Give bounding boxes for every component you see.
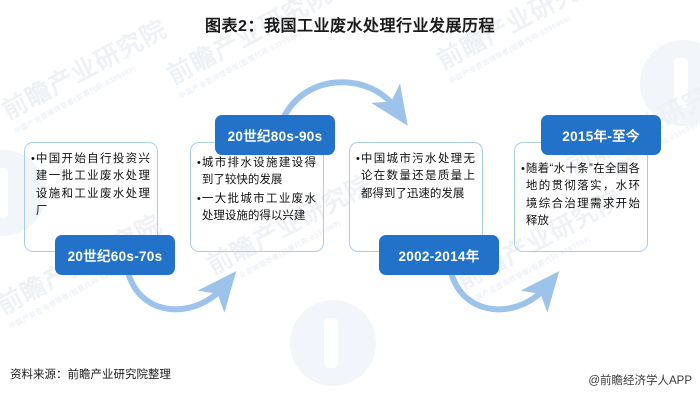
bullet-text: 一大批城市工业废水处理设施的得以兴建 — [202, 191, 316, 226]
bullet-marker: • — [521, 161, 525, 178]
stage-badge-4-label: 2015年-至今 — [562, 125, 639, 145]
stage-card-2: • 城市排水设施建设得到了较快的发展 • 一大批城市工业废水处理设施的得以兴建 — [190, 142, 324, 252]
stage-card-2-body: • 城市排水设施建设得到了较快的发展 • 一大批城市工业废水处理设施的得以兴建 — [191, 143, 323, 233]
bullet-marker: • — [31, 151, 35, 168]
bullet-item: • 随着“水十条”在全国各地的贯彻落实，水环境综合治理需求开始释放 — [521, 161, 640, 231]
chart-canvas: 前瞻产业研究院 中国产业咨询领导者(股票代码:8395999) 前瞻产业研究院 … — [0, 0, 700, 400]
bullet-text: 随着“水十条”在全国各地的贯彻落实，水环境综合治理需求开始释放 — [526, 161, 640, 231]
stage-card-4: • 随着“水十条”在全国各地的贯彻落实，水环境综合治理需求开始释放 — [514, 142, 648, 252]
stage-badge-4[interactable]: 2015年-至今 — [541, 115, 661, 155]
bullet-text: 中国开始自行投资兴建一批工业废水处理设施和工业废水处理厂 — [36, 151, 150, 221]
bullet-item: • 城市排水设施建设得到了较快的发展 — [197, 155, 316, 190]
stage-badge-3[interactable]: 2002-2014年 — [379, 235, 499, 275]
app-attribution: @前瞻经济学人APP — [588, 372, 692, 388]
source-note: 资料来源：前瞻产业研究院整理 — [10, 366, 171, 382]
bullet-item: • 中国开始自行投资兴建一批工业废水处理设施和工业废水处理厂 — [31, 151, 150, 221]
stage-badge-2-label: 20世纪80s-90s — [228, 125, 323, 145]
stage-card-1-body: • 中国开始自行投资兴建一批工业废水处理设施和工业废水处理厂 — [25, 143, 157, 228]
page-title: 图表2：我国工业废水处理行业发展历程 — [0, 12, 700, 36]
stage-badge-1-label: 20世纪60s-70s — [68, 245, 163, 265]
stage-badge-3-label: 2002-2014年 — [398, 245, 479, 265]
bullet-marker: • — [197, 155, 201, 172]
stage-card-4-body: • 随着“水十条”在全国各地的贯彻落实，水环境综合治理需求开始释放 — [515, 143, 647, 238]
bullet-marker: • — [356, 151, 360, 168]
bullet-marker: • — [197, 191, 201, 208]
stage-card-3-body: • 中国城市污水处理无论在数量还是质量上都得到了迅速的发展 — [350, 143, 482, 210]
bullet-text: 城市排水设施建设得到了较快的发展 — [202, 155, 316, 190]
bullet-text: 中国城市污水处理无论在数量还是质量上都得到了迅速的发展 — [361, 151, 475, 203]
bullet-item: • 中国城市污水处理无论在数量还是质量上都得到了迅速的发展 — [356, 151, 475, 203]
stage-badge-1[interactable]: 20世纪60s-70s — [55, 235, 175, 275]
stage-badge-2[interactable]: 20世纪80s-90s — [215, 115, 335, 155]
bullet-item: • 一大批城市工业废水处理设施的得以兴建 — [197, 191, 316, 226]
